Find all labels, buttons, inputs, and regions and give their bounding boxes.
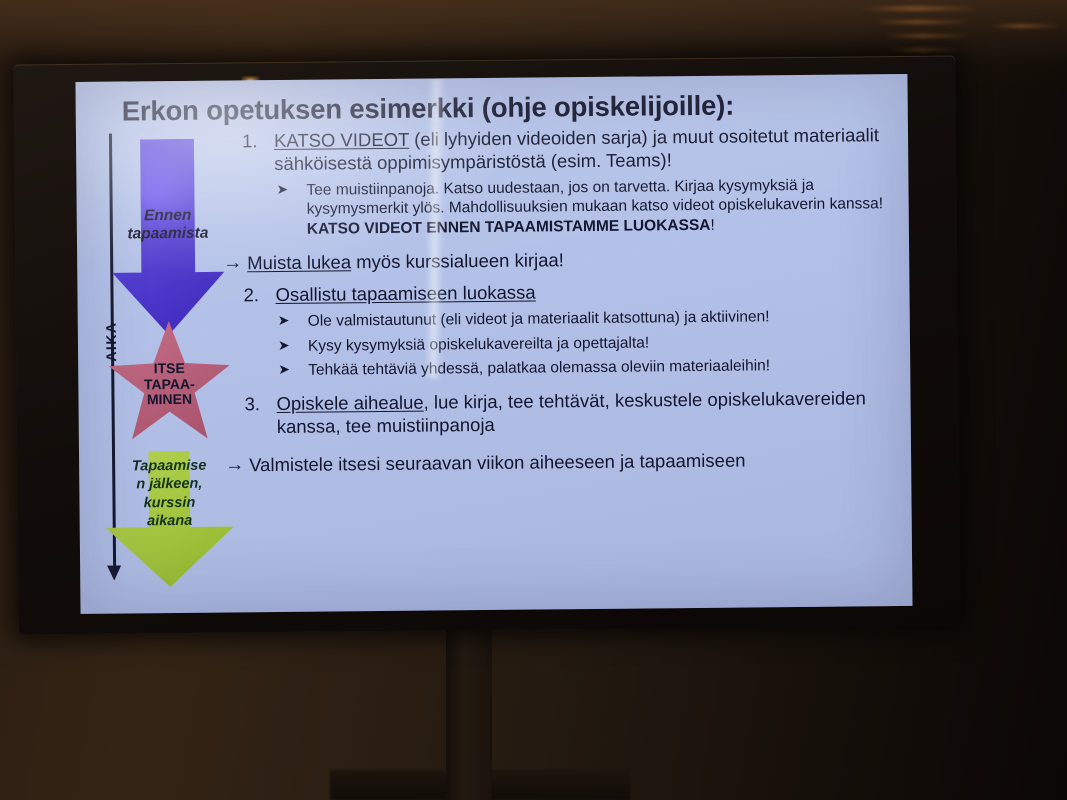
after-label-line-2: n jälkeen, [103,475,235,495]
self-meeting-star: ITSE TAPAA- MINEN [106,320,233,445]
chevron-bullet-icon: ➤ [278,337,290,355]
star-label-line-3: MINEN [106,392,232,409]
after-label-line-3: kurssin [103,493,235,513]
sub-item: ➤Kysy kysymyksiä opiskelukavereilta ja o… [230,331,902,357]
sub-list: ➤Ole valmistautunut (eli videot ja mater… [230,306,903,381]
monitor-screen: Erkon opetuksen esimerkki (ohje opiskeli… [75,74,912,614]
arrow-line-rest: myös kurssialueen kirjaa! [351,250,564,273]
numbered-item: 1.KATSO VIDEOT (eli lyhyiden videoiden s… [228,124,900,176]
wall-streak [860,6,980,11]
sub-item-bold-tail: KATSO VIDEOT ENNEN TAPAAMISTAMME LUOKASS… [307,217,711,238]
slide-body: 1.KATSO VIDEOT (eli lyhyiden videoiden s… [228,124,903,482]
arrow-right-icon: → [225,453,244,477]
after-meeting-arrow-label: Tapaamise n jälkeen, kurssin aikana [103,456,236,530]
arrow-line-rest: Valmistele itsesi seuraavan viikon aihee… [249,449,746,475]
room-background: Erkon opetuksen esimerkki (ohje opiskeli… [0,0,1067,800]
chevron-bullet-icon: ➤ [278,361,290,379]
star-label-line-1: ITSE [106,360,232,377]
item-heading: Opiskele aihealue [276,391,423,413]
sub-item-text: Kysy kysymyksiä opiskelukavereilta ja op… [308,334,649,354]
item-heading: Osallistu tapaamiseen luokassa [275,282,535,305]
after-meeting-arrow: Tapaamise n jälkeen, kurssin aikana [105,450,234,587]
arrow-line-heading: Muista lukea [247,252,351,274]
arrow-line: →Muista lukea myös kurssialueen kirjaa! [229,246,901,275]
presentation-slide: Erkon opetuksen esimerkki (ohje opiskeli… [75,74,912,614]
after-label-line-1: Tapaamise [103,456,235,476]
before-label-line-2: tapaamista [96,225,240,245]
chevron-bullet-icon: ➤ [276,181,288,199]
self-meeting-star-label: ITSE TAPAA- MINEN [106,360,232,408]
sub-item: ➤Ole valmistautunut (eli videot ja mater… [230,306,902,332]
sub-list: ➤Tee muistiinpanoja. Katso uudestaan, jo… [228,175,901,240]
numbered-item: 3.Opiskele aihealue, lue kirja, tee teht… [230,387,902,439]
wall-streak [884,34,970,38]
item-number: 2. [243,285,259,308]
sub-item-text: Tehkää tehtäviä yhdessä, palatkaa olemas… [308,358,770,379]
arrow-right-icon: → [223,252,242,276]
sub-item-text: Ole valmistautunut (eli videot ja materi… [308,309,770,330]
sub-item-text: Tee muistiinpanoja. Katso uudestaan, jos… [306,177,883,218]
after-label-line-4: aikana [104,511,236,531]
before-label-line-1: Ennen [96,206,240,226]
item-number: 1. [242,130,258,153]
monitor: Erkon opetuksen esimerkki (ohje opiskeli… [13,55,960,634]
before-meeting-arrow-label: Ennen tapaamista [96,206,240,244]
before-meeting-arrow: Ennen tapaamista [111,139,225,336]
sub-item: ➤Tehkää tehtäviä yhdessä, palatkaa olema… [230,355,902,381]
item-heading: KATSO VIDEOT [274,129,409,151]
slide-title: Erkon opetuksen esimerkki (ohje opiskeli… [122,88,902,127]
sub-item: ➤Tee muistiinpanoja. Katso uudestaan, jo… [228,175,901,240]
sub-item-tail-suffix: ! [710,217,714,234]
arrow-line: →Valmistele itsesi seuraavan viikon aihe… [231,448,903,477]
item-number: 3. [244,393,260,416]
wall-streak [990,24,1060,28]
monitor-stand-neck [446,626,492,800]
wall-streak [872,20,972,24]
wall-streak [890,48,960,52]
chevron-bullet-icon: ➤ [278,312,290,330]
